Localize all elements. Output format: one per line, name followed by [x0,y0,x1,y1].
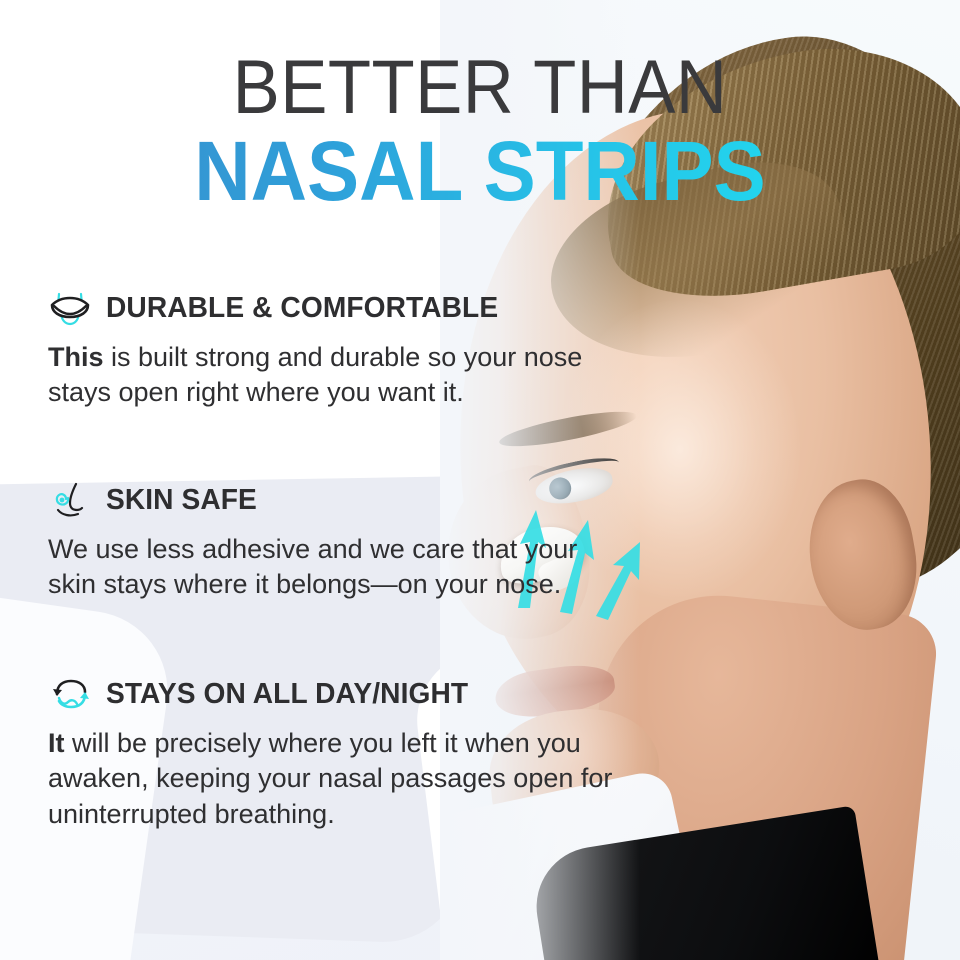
feature-body: This is built strong and durable so your… [48,340,608,410]
nose-profile-swirl-icon [48,480,94,520]
feature-body-rest: will be precisely where you left it when… [48,728,612,828]
infographic-poster: BETTER THAN NASAL STRIPS DURABLE & COMFO… [0,0,960,960]
feature-title: SKIN SAFE [106,484,257,517]
feature-body-lead: This [48,342,104,372]
feature-body-rest: We use less adhesive and we care that yo… [48,534,577,599]
cycle-arrows-strip-icon [48,674,94,714]
headline-line-1: BETTER THAN [34,52,927,125]
feature-body-rest: is built strong and durable so your nose… [48,342,582,407]
feature-header: DURABLE & COMFORTABLE [48,288,648,328]
nasal-dilator-airflow-icon [48,288,94,328]
feature-durable-comfortable: DURABLE & COMFORTABLE This is built stro… [48,288,648,410]
feature-title: DURABLE & COMFORTABLE [106,292,498,325]
feature-body-lead: It [48,728,65,758]
feature-title: STAYS ON ALL DAY/NIGHT [106,678,468,711]
feature-skin-safe: SKIN SAFE We use less adhesive and we ca… [48,480,648,602]
feature-list: DURABLE & COMFORTABLE This is built stro… [48,288,648,832]
feature-body: We use less adhesive and we care that yo… [48,532,608,602]
feature-header: SKIN SAFE [48,480,648,520]
feature-body: It will be precisely where you left it w… [48,726,628,831]
feature-header: STAYS ON ALL DAY/NIGHT [48,674,648,714]
headline-line-2: NASAL STRIPS [34,131,927,212]
headline: BETTER THAN NASAL STRIPS [0,52,960,212]
feature-stays-on: STAYS ON ALL DAY/NIGHT It will be precis… [48,674,648,831]
